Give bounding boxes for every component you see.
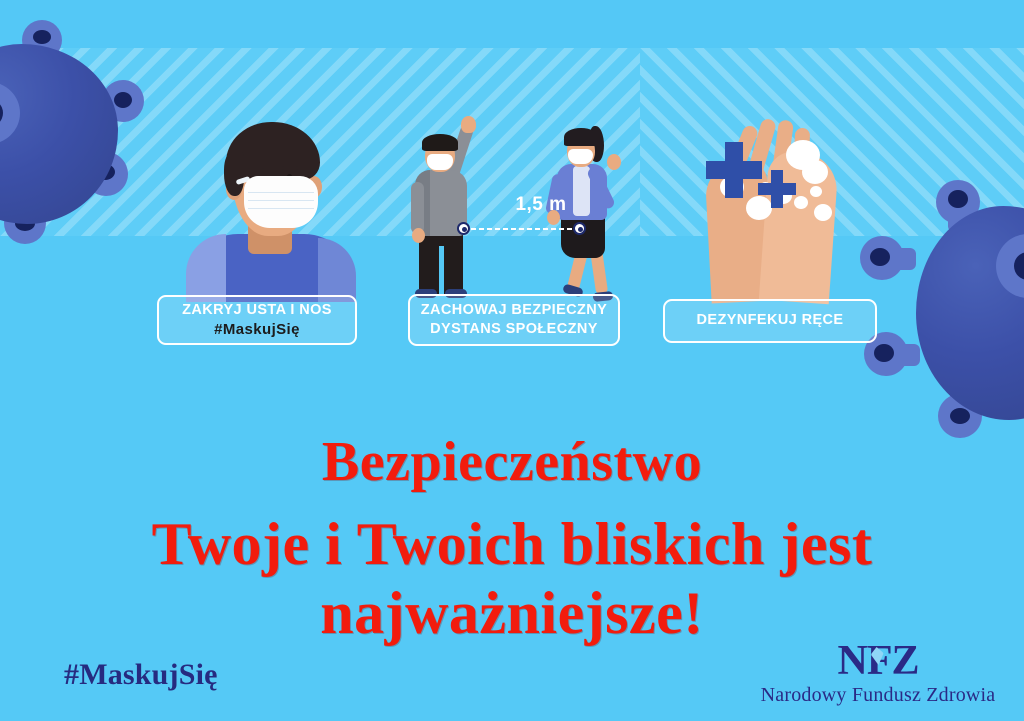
medical-cross-icon-small [758,170,796,208]
nfz-logo: NFZ Narodowy Fundusz Zdrowia [748,640,1008,707]
caption-line-1: ZACHOWAJ BEZPIECZNY [421,301,607,320]
caption-hashtag-light: Się [276,321,300,338]
headline-line-1: Bezpieczeństwo [0,430,1024,494]
caption-hashtag-bold: #Maskuj [214,321,276,338]
virus-particle-right [888,198,1024,428]
caption-line-1: DEZYNFEKUJ RĘCE [697,311,844,330]
caption-line-1: ZAKRYJ USTA I NOS [182,301,332,320]
social-distance-illustration: 1,5 m [405,112,635,300]
masked-man-illustration [186,112,356,300]
distance-endpoint-right [573,222,586,235]
caption-line-2: DYSTANS SPOŁECZNY [430,320,598,339]
caption-hashtag: #MaskujSię [214,320,300,340]
nfz-logo-mark: NFZ [838,640,919,682]
distance-endpoint-left [457,222,470,235]
caption-disinfect-hands[interactable]: DEZYNFEKUJ RĘCE [663,299,877,343]
nfz-logo-subtitle: Narodowy Fundusz Zdrowia [748,684,1008,707]
distance-dashed-line [463,228,579,230]
caption-cover-mouth-nose[interactable]: ZAKRYJ USTA I NOS #MaskujSię [157,295,357,345]
headline-line-2: Twoje i Twoich bliskich jest najważniejs… [0,510,1024,648]
distance-measure-label: 1,5 m [491,194,591,216]
medical-cross-icon-large [706,142,762,198]
washing-hands-illustration [690,118,880,300]
poster-canvas: 1,5 m ZAKRYJ USTA I NOS #MaskujSię ZACHO… [0,0,1024,721]
figure-man-waving [411,126,485,300]
footer-hashtag: #MaskujSię [64,658,218,692]
virus-particle-left [0,34,174,264]
caption-keep-distance[interactable]: ZACHOWAJ BEZPIECZNY DYSTANS SPOŁECZNY [408,294,620,346]
